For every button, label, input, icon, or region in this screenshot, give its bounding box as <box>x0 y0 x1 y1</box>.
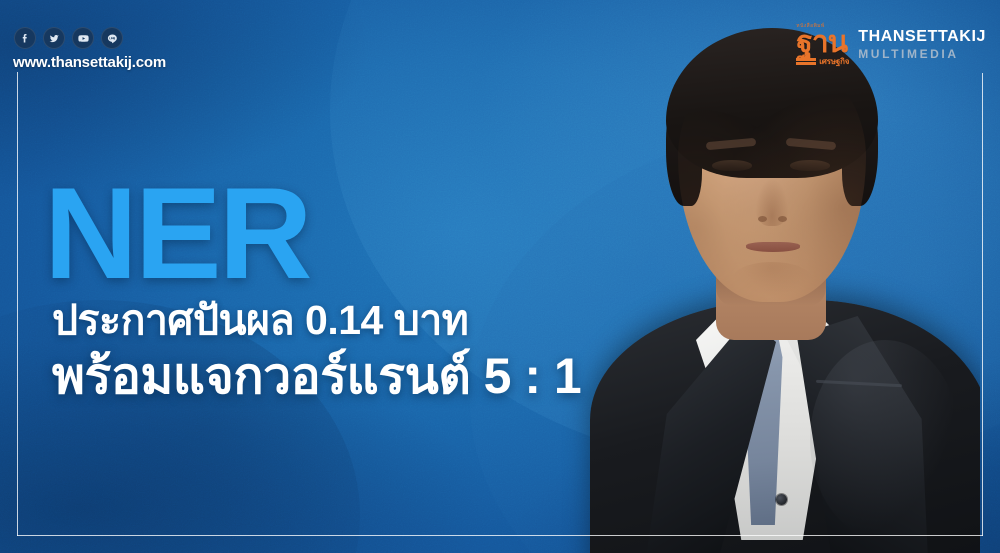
brand-subtitle: MULTIMEDIA <box>858 48 986 60</box>
frame-line-bottom <box>17 535 983 536</box>
brand-mark-thai-word: ฐาน <box>796 30 847 56</box>
portrait-jacket-highlight <box>810 340 960 540</box>
youtube-icon[interactable] <box>72 27 94 49</box>
brand-wordmark: THANSETTAKIJ MULTIMEDIA <box>858 29 986 60</box>
social-links-row <box>14 27 123 49</box>
brand-name: THANSETTAKIJ <box>858 29 986 45</box>
headline-line-1: ประกาศปันผล 0.14 บาท <box>52 298 724 344</box>
brand-mark-bars-icon <box>796 58 816 65</box>
headline-block: NER ประกาศปันผล 0.14 บาท พร้อมแจกวอร์แรน… <box>44 178 724 404</box>
stock-ticker-symbol: NER <box>44 178 724 290</box>
frame-line-left <box>17 72 18 536</box>
facebook-icon[interactable] <box>14 27 36 49</box>
portrait-jacket-button <box>776 494 787 505</box>
website-url[interactable]: www.thansettakij.com <box>13 54 166 71</box>
brand-mark-thai-sub: เศรษฐกิจ <box>819 58 849 66</box>
brand-mark-thai: หนังสือพิมพ์ ฐาน เศรษฐกิจ <box>796 24 849 66</box>
line-icon[interactable] <box>101 27 123 49</box>
frame-line-right <box>982 73 983 536</box>
headline-line-2: พร้อมแจกวอร์แรนต์ 5 : 1 <box>52 348 724 404</box>
promo-graphic-canvas: www.thansettakij.com หนังสือพิมพ์ ฐาน เศ… <box>0 0 1000 553</box>
brand-logo: หนังสือพิมพ์ ฐาน เศรษฐกิจ THANSETTAKIJ M… <box>796 24 986 66</box>
brand-mark-kicker: หนังสือพิมพ์ <box>796 24 824 29</box>
twitter-icon[interactable] <box>43 27 65 49</box>
brand-mark-subrow: เศรษฐกิจ <box>796 58 849 66</box>
